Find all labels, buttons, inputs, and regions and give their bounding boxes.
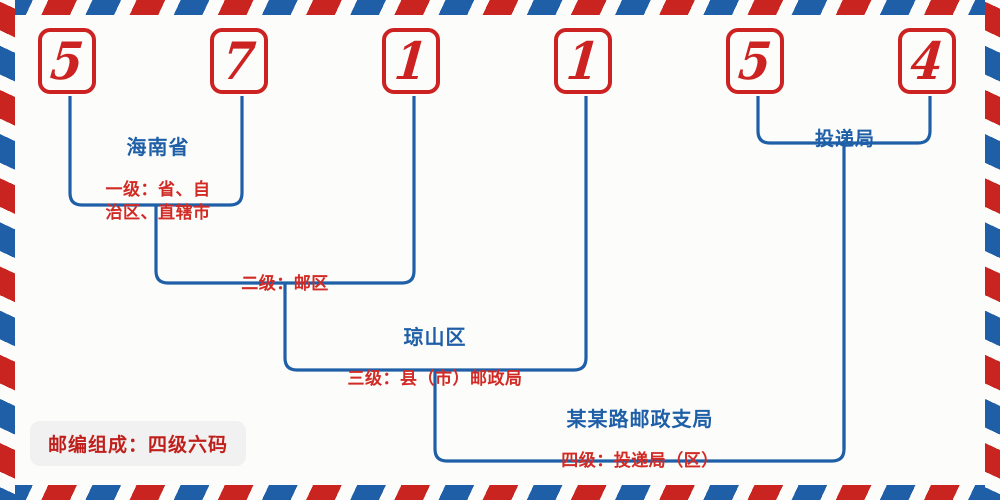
postcode-composition-badge: 邮编组成：四级六码 (30, 421, 246, 466)
digit-glyph-3: 1 (392, 35, 429, 87)
digit-box-4[interactable]: 1 (554, 28, 612, 94)
label-level3-title: 琼山区 (300, 326, 570, 350)
digit-glyph-1: 5 (48, 35, 85, 87)
digit-box-5[interactable]: 5 (726, 28, 784, 94)
label-level2: 二级：邮区 (185, 254, 385, 314)
digit-box-3[interactable]: 1 (382, 28, 440, 94)
digit-glyph-2: 7 (220, 35, 257, 87)
label-level1-subtitle: 一级：省、自 治区、直辖市 (78, 179, 238, 223)
label-level4-subtitle: 四级：投递局（区） (470, 451, 810, 472)
digit-glyph-4: 1 (564, 35, 601, 87)
label-level1: 海南省 一级：省、自 治区、直辖市 (78, 116, 238, 243)
label-level1-title: 海南省 (78, 136, 238, 160)
label-level4: 某某路邮政支局 四级：投递局（区） (470, 388, 810, 492)
digit-box-2[interactable]: 7 (210, 28, 268, 94)
digit-glyph-6: 4 (908, 35, 945, 87)
label-delivery-title: 投递局 (760, 128, 930, 151)
digit-glyph-5: 5 (736, 35, 773, 87)
label-level4-title: 某某路邮政支局 (470, 408, 810, 432)
label-level2-subtitle: 二级：邮区 (185, 274, 385, 295)
digit-box-1[interactable]: 5 (38, 28, 96, 94)
label-delivery: 投递局 (760, 108, 930, 170)
digit-box-6[interactable]: 4 (898, 28, 956, 94)
postcode-diagram-canvas: 5 7 1 1 5 4 海南省 一级：省、自 治区、直辖市 二级：邮区 琼山区 … (0, 0, 1000, 500)
